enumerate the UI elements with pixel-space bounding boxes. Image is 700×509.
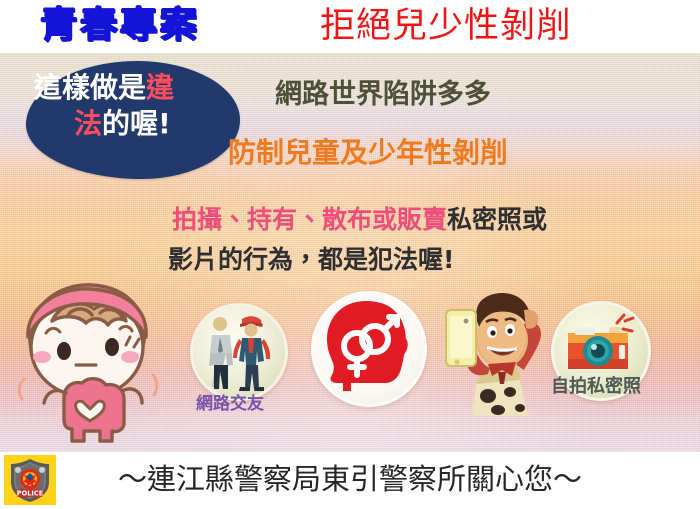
callout-line-1-red: 違 <box>146 71 174 104</box>
body-line-1-dark: 私密照或 <box>447 205 547 234</box>
header-band: 青春專案 拒絕兒少性剝削 <box>0 0 700 53</box>
content-band: 這樣做是違 法的喔! 網路世界陷阱多多 防制兒童及少年性剝削 拍攝、持有、散布或… <box>0 53 700 452</box>
gender-symbols-head-icon <box>311 291 421 401</box>
callout-line-2-white: 的喔! <box>102 107 171 140</box>
callout-line-1-white: 這樣做是 <box>34 71 146 104</box>
caption-online-friends: 網路交友 <box>196 394 264 415</box>
page-title-main: 青春專案 <box>40 2 200 50</box>
mascot-girl-icon <box>8 275 168 447</box>
callout-line-1: 這樣做是違 <box>34 71 244 105</box>
body-line-1: 拍攝、持有、散布或販賣私密照或 <box>172 205 547 235</box>
footer-band: POLICE ～連江縣警察局東引警察所關心您～ <box>0 452 700 509</box>
headline-secondary: 防制兒童及少年性剝削 <box>228 136 508 170</box>
two-people-icon <box>190 303 282 395</box>
body-line-1-pink: 拍攝、持有、散布或販賣 <box>172 205 447 234</box>
headline-primary: 網路世界陷阱多多 <box>275 79 491 111</box>
body-line-2: 影片的行為，都是犯法喔! <box>168 245 454 275</box>
callout-line-2-red: 法 <box>74 107 102 140</box>
woody-selfie-icon <box>432 288 558 416</box>
caption-selfie: 自拍私密照 <box>551 376 641 398</box>
page-title-sub: 拒絕兒少性剝削 <box>320 3 572 50</box>
poster-canvas: 青春專案 拒絕兒少性剝削 這樣做是違 法的喔! 網路世界陷阱多多 防制兒童及少年… <box>0 0 700 509</box>
footer-text: ～連江縣警察局東引警察所關心您～ <box>0 457 700 502</box>
